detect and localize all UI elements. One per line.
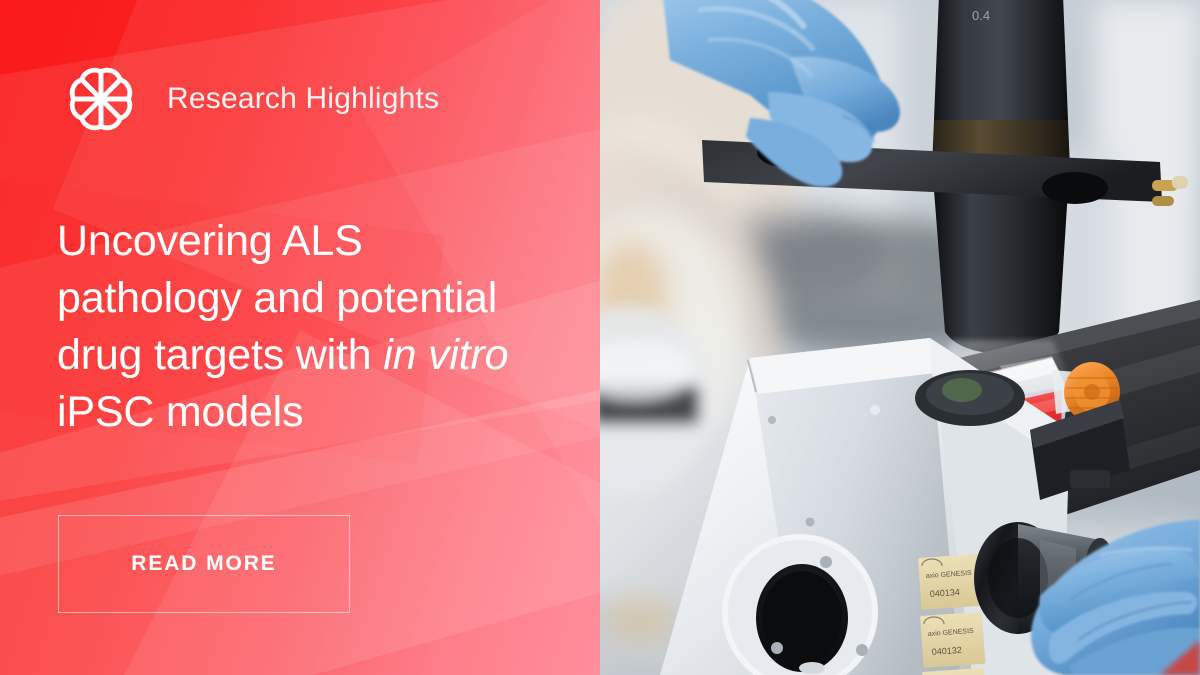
headline-line-4: iPSC models	[57, 388, 303, 436]
rosette-flower-logo-icon	[57, 55, 145, 143]
svg-text:040132: 040132	[931, 645, 962, 657]
microscope-photo: 0.4	[600, 0, 1200, 675]
headline-line-1: Uncovering ALS	[57, 217, 363, 265]
headline-line-2: pathology and potential	[57, 274, 497, 322]
headline-line-3-prefix: drug targets with	[57, 331, 383, 379]
left-panel-content: Research Highlights Uncovering ALSpathol…	[0, 0, 600, 675]
left-red-panel: Research Highlights Uncovering ALSpathol…	[0, 0, 600, 675]
headline-line-3-italic: in vitro	[383, 331, 508, 379]
read-more-button[interactable]: READ MORE	[58, 515, 350, 613]
brand-lockup: Research Highlights	[57, 55, 439, 143]
page-title: Uncovering ALSpathology and potentialdru…	[57, 213, 567, 441]
objective-marking-text: 0.4	[972, 8, 990, 23]
svg-text:040134: 040134	[929, 587, 960, 599]
brand-name: Research Highlights	[167, 84, 439, 114]
research-highlights-banner: Research Highlights Uncovering ALSpathol…	[0, 0, 1200, 675]
